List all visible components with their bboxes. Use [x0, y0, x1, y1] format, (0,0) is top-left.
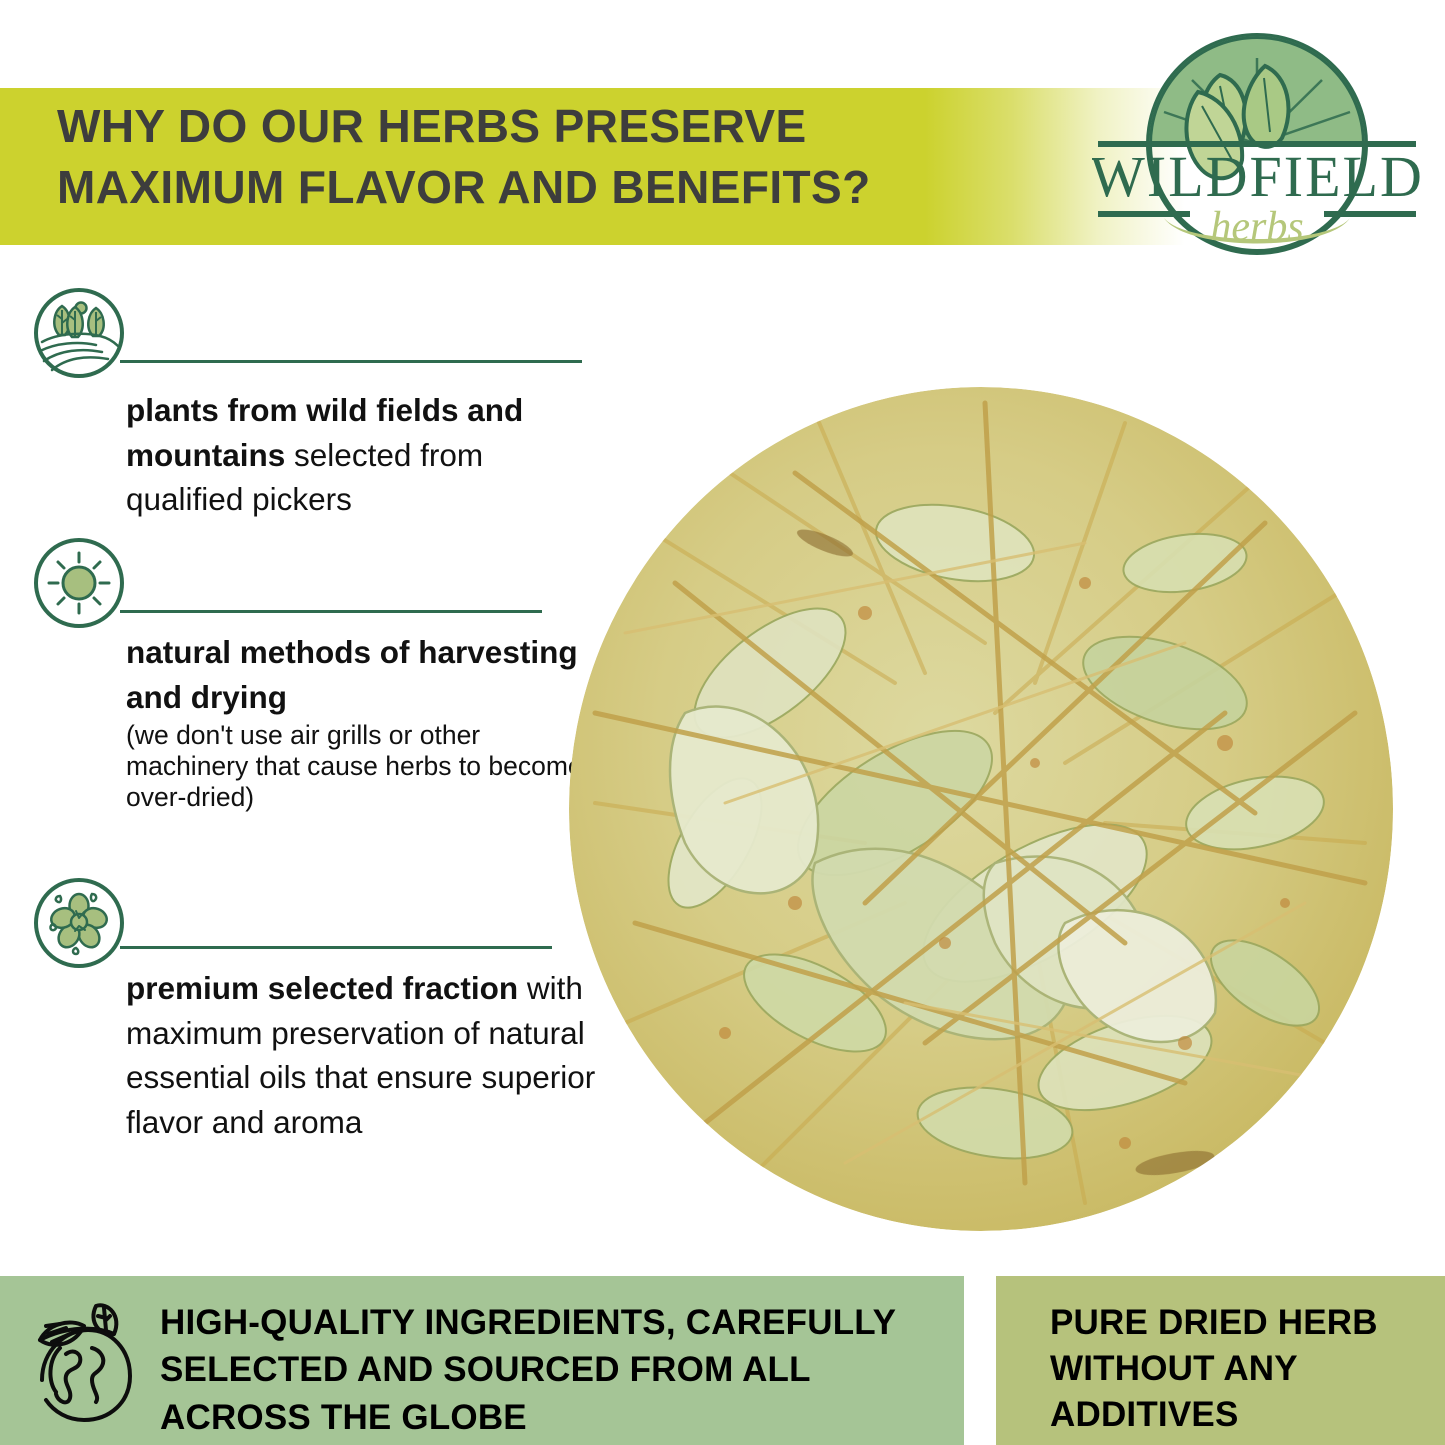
feature-divider — [120, 360, 582, 363]
logo-wordmark: WILDFIELD — [1092, 144, 1422, 209]
feature-3-bold: premium selected fraction — [126, 970, 518, 1006]
bottom-banner-right-text: PURE DRIED HERB WITHOUT ANY ADDITIVES — [1050, 1300, 1440, 1439]
brand-logo: WILDFIELD herbs — [1092, 28, 1422, 260]
feature-text-2: natural methods of harvesting and drying… — [126, 630, 586, 813]
feature-text-3: premium selected fraction with maximum p… — [126, 966, 636, 1145]
feature-divider — [120, 946, 552, 949]
sun-icon — [32, 536, 126, 630]
flower-icon — [32, 876, 126, 970]
page-title: WHY DO OUR HERBS PRESERVE MAXIMUM FLAVOR… — [57, 96, 1017, 218]
logo-script: herbs — [1210, 204, 1303, 250]
dried-herb-pile-photo — [565, 383, 1397, 1235]
feature-2-note: (we don't use air grills or other machin… — [126, 720, 586, 812]
field-with-trees-icon — [32, 286, 126, 380]
feature-divider — [120, 610, 542, 613]
feature-text-1: plants from wild fields and mountains se… — [126, 388, 606, 522]
bottom-banner-left-text: HIGH-QUALITY INGREDIENTS, CAREFULLY SELE… — [160, 1299, 960, 1441]
globe-with-leaves-icon — [26, 1296, 138, 1428]
feature-2-bold: natural methods of harvesting and drying — [126, 634, 578, 715]
